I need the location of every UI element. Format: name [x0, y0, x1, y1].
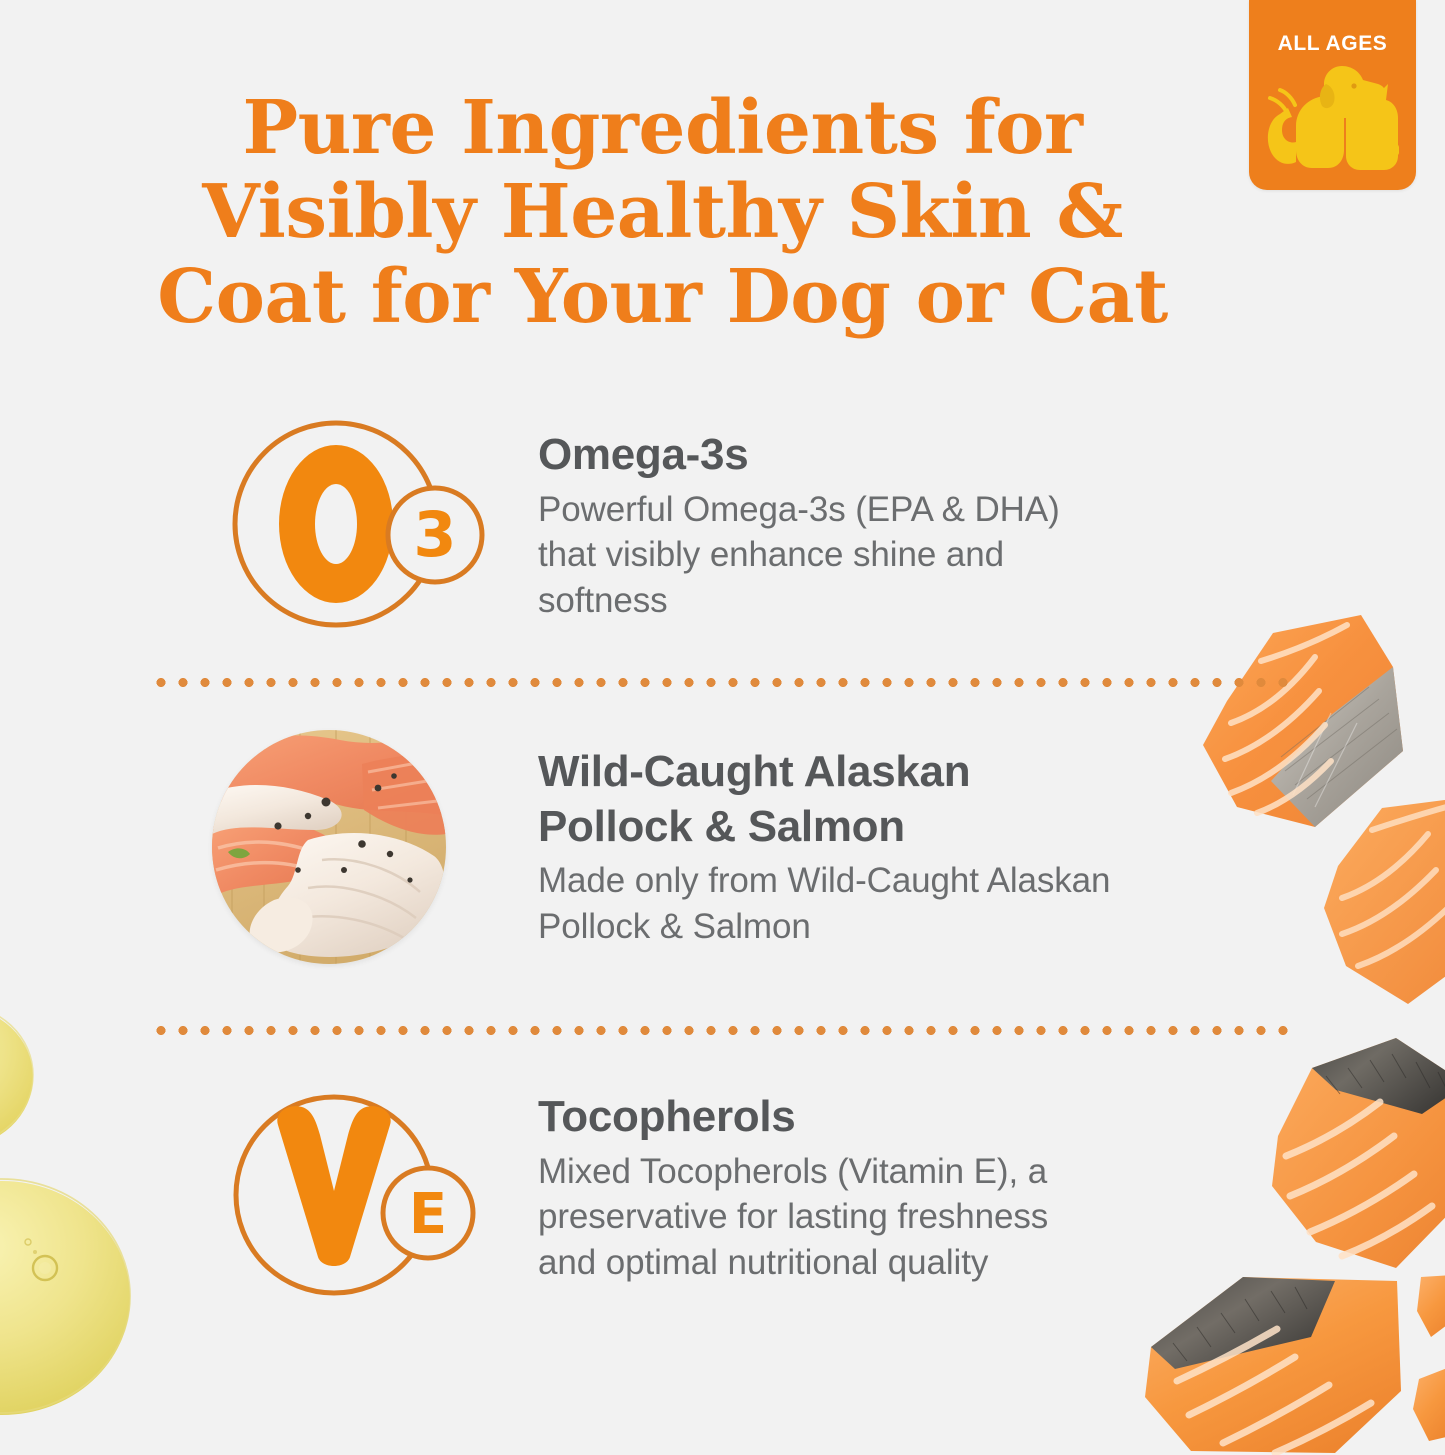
- svg-text:3: 3: [413, 498, 456, 571]
- feature-tocopherols-text: Tocopherols Mixed Tocopherols (Vitamin E…: [538, 1090, 1258, 1285]
- vitamin-e-circle-icon: E: [222, 1085, 492, 1315]
- page-title-line-3: Coat for Your Dog or Cat: [105, 255, 1220, 339]
- title-line: Pollock & Salmon: [538, 800, 1258, 855]
- page-title: Pure Ingredients for Visibly Healthy Ski…: [105, 86, 1220, 339]
- svg-text:E: E: [409, 1182, 447, 1247]
- feature-tocopherols-body: Mixed Tocopherols (Vitamin E), a preserv…: [538, 1149, 1258, 1286]
- divider-2: [150, 1026, 1290, 1035]
- body-line: softness: [538, 578, 1238, 624]
- title-line: Wild-Caught Alaskan: [538, 745, 1258, 800]
- dog-and-cat-silhouette-icon: [1266, 62, 1399, 180]
- fish-fillets-photo: [212, 730, 446, 964]
- feature-wild-caught-fish-body: Made only from Wild-Caught Alaskan Pollo…: [538, 858, 1258, 949]
- oil-droplets-decoration: [0, 980, 220, 1450]
- all-ages-label: ALL AGES: [1249, 32, 1416, 56]
- feature-tocopherols-title: Tocopherols: [538, 1090, 1258, 1145]
- feature-omega-3-text: Omega-3s Powerful Omega-3s (EPA & DHA) t…: [538, 428, 1238, 623]
- salmon-piece-bottom-right: [1135, 1275, 1445, 1455]
- all-ages-badge: ALL AGES: [1249, 0, 1416, 190]
- feature-wild-caught-fish-text: Wild-Caught Alaskan Pollock & Salmon Mad…: [538, 745, 1258, 949]
- body-line: Powerful Omega-3s (EPA & DHA): [538, 487, 1238, 533]
- feature-wild-caught-fish-title: Wild-Caught Alaskan Pollock & Salmon: [538, 745, 1258, 854]
- body-line: Mixed Tocopherols (Vitamin E), a: [538, 1149, 1258, 1195]
- body-line: Pollock & Salmon: [538, 904, 1258, 950]
- body-line: that visibly enhance shine and: [538, 532, 1238, 578]
- salmon-piece-right-middle: [1320, 790, 1445, 1030]
- body-line: and optimal nutritional quality: [538, 1240, 1258, 1286]
- page-title-line-1: Pure Ingredients for: [105, 86, 1220, 170]
- page-title-line-2: Visibly Healthy Skin &: [105, 170, 1220, 254]
- omega-3-circle-icon: 3: [218, 412, 488, 637]
- body-line: preservative for lasting freshness: [538, 1194, 1258, 1240]
- salmon-piece-right-lower: [1270, 1010, 1445, 1310]
- divider-1: [150, 678, 1290, 687]
- body-line: Made only from Wild-Caught Alaskan: [538, 858, 1258, 904]
- feature-omega-3-body: Powerful Omega-3s (EPA & DHA) that visib…: [538, 487, 1238, 624]
- feature-omega-3-title: Omega-3s: [538, 428, 1238, 483]
